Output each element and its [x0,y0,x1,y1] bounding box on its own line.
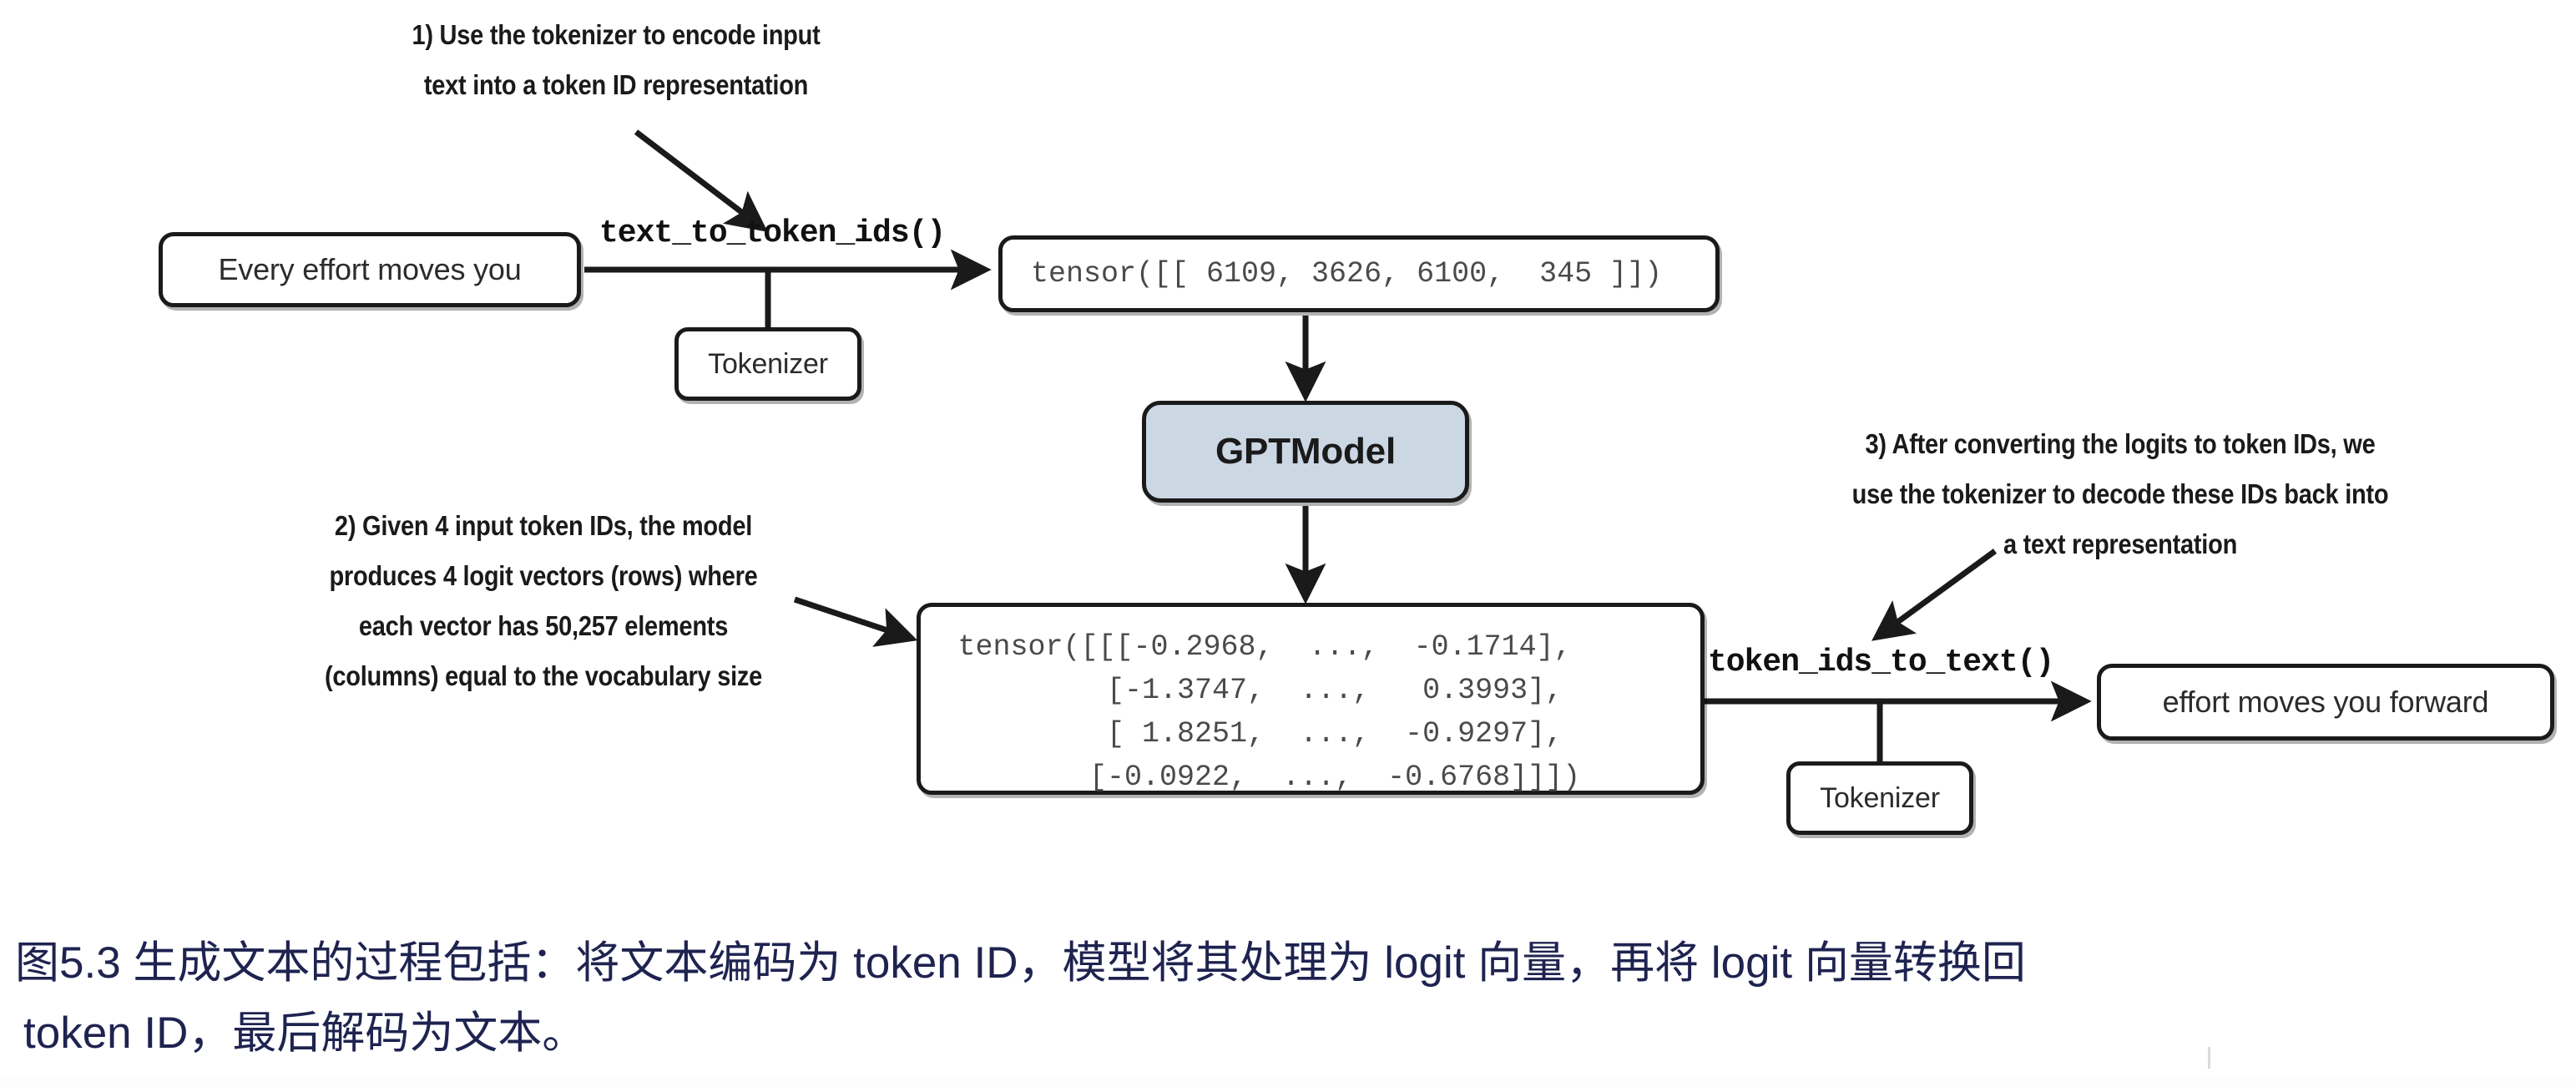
caption-line-1: 图5.3 生成文本的过程包括：将文本编码为 token ID，模型将其处理为 l… [15,938,2026,988]
annotation-step-3: 3) After converting the logits to token … [1790,419,2451,569]
page-bottom-band [0,1077,2576,1087]
caption-line-2: token ID，最后解码为文本。 [15,999,2561,1069]
annotation-step-1: 1) Use the tokenizer to encode input tex… [351,10,881,110]
node-input-text: Every effort moves you [159,232,581,307]
arrow-annotation-1 [636,132,761,227]
node-output-text: effort moves you forward [2097,664,2554,741]
annotation-step-2: 2) Given 4 input token IDs, the model pr… [239,501,848,701]
node-logits-tensor: tensor([[[-0.2968, ..., -0.1714], [-1.37… [917,603,1705,795]
edge-label-token-ids-to-text: token_ids_to_text() [1708,645,2053,680]
node-gpt-model: GPTModel [1142,401,1469,503]
node-token-ids-tensor: tensor([[ 6109, 3626, 6100, 345 ]]) [998,235,1720,312]
node-tokenizer-encode: Tokenizer [674,327,861,401]
figure-caption: 图5.3 生成文本的过程包括：将文本编码为 token ID，模型将其处理为 l… [15,928,2561,1069]
figure-diagram: 1) Use the tokenizer to encode input tex… [0,0,2576,1087]
text-cursor-tick [2208,1047,2210,1069]
edge-label-text-to-token-ids: text_to_token_ids() [599,215,945,251]
node-tokenizer-decode: Tokenizer [1786,761,1973,835]
